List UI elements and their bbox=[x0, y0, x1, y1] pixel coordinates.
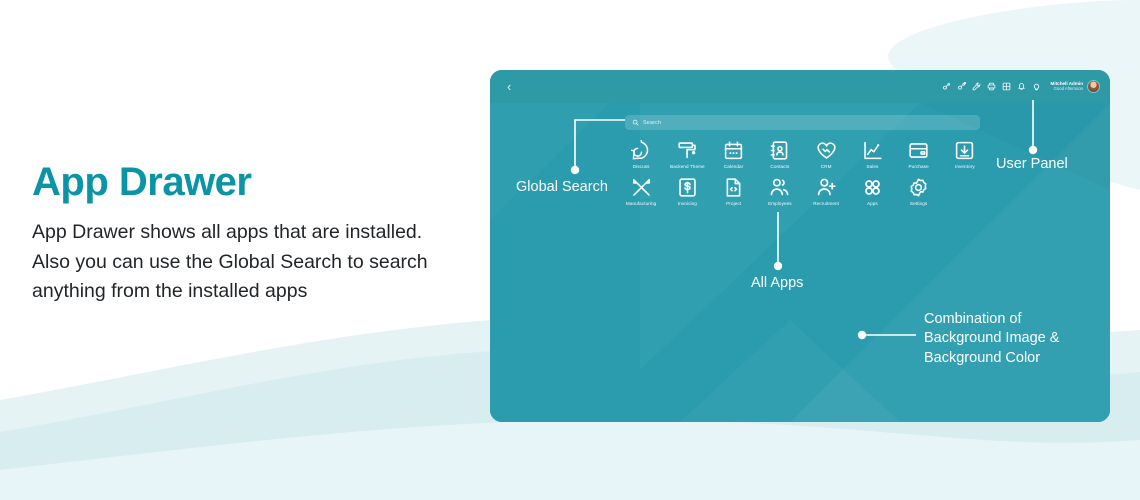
app-item-inventory[interactable]: Inventory bbox=[942, 140, 988, 169]
contacts-book-icon bbox=[769, 140, 790, 161]
app-item-project[interactable]: Project bbox=[711, 177, 757, 206]
bell-icon[interactable] bbox=[1017, 82, 1026, 91]
grid-icon[interactable] bbox=[1002, 82, 1011, 91]
search-placeholder: Search bbox=[643, 120, 661, 126]
user-greeting: Good Afternoon bbox=[1051, 87, 1084, 92]
calendar-icon bbox=[723, 140, 744, 161]
app-label: Settings bbox=[910, 201, 927, 206]
avatar[interactable] bbox=[1087, 80, 1100, 93]
invoice-dollar-icon bbox=[677, 177, 698, 198]
topbar-status-icons: Mitchell Admin Good Afternoon bbox=[942, 80, 1101, 93]
search-input[interactable]: Search bbox=[625, 115, 980, 130]
app-item-settings[interactable]: Settings bbox=[896, 177, 942, 206]
app-item-backend-theme[interactable]: Backend Theme bbox=[664, 140, 710, 169]
user-panel[interactable]: Mitchell Admin Good Afternoon bbox=[1051, 80, 1101, 93]
app-label: Backend Theme bbox=[670, 164, 705, 169]
annotation-label-line2: Background Image & bbox=[924, 329, 1059, 348]
box-download-icon bbox=[954, 140, 975, 161]
line-chart-icon bbox=[862, 140, 883, 161]
user-text: Mitchell Admin Good Afternoon bbox=[1051, 81, 1084, 91]
bug-icon[interactable] bbox=[942, 82, 951, 91]
annotation-global-search: Global Search bbox=[516, 178, 608, 197]
app-label: Recruitment bbox=[813, 201, 839, 206]
print-icon[interactable] bbox=[987, 82, 996, 91]
app-label: Manufacturing bbox=[626, 201, 656, 206]
discuss-icon bbox=[631, 140, 652, 161]
gear-icon bbox=[908, 177, 929, 198]
wrench-icon[interactable] bbox=[972, 82, 981, 91]
page-description: App Drawer shows all apps that are insta… bbox=[32, 218, 452, 307]
app-label: Sales bbox=[866, 164, 878, 169]
lightbulb-icon[interactable] bbox=[1032, 82, 1041, 91]
app-label: Discuss bbox=[633, 164, 650, 169]
annotation-background-combination: Combination of Background Image & Backgr… bbox=[924, 310, 1059, 368]
annotation-user-panel: User Panel bbox=[996, 155, 1068, 174]
annotation-label-line1: Combination of bbox=[924, 310, 1059, 329]
app-label: Contacts bbox=[770, 164, 789, 169]
app-label: Invoicing bbox=[678, 201, 697, 206]
app-label: Inventory bbox=[955, 164, 975, 169]
bug-badge-icon[interactable] bbox=[957, 82, 966, 91]
four-dots-icon bbox=[862, 177, 883, 198]
app-item-apps[interactable]: Apps bbox=[849, 177, 895, 206]
app-item-purchase[interactable]: Purchase bbox=[896, 140, 942, 169]
app-item-recruitment[interactable]: Recruitment bbox=[803, 177, 849, 206]
app-item-manufacturing[interactable]: Manufacturing bbox=[618, 177, 664, 206]
app-label: Project bbox=[726, 201, 741, 206]
app-label: Apps bbox=[867, 201, 878, 206]
app-drawer-panel: ‹ Mitc bbox=[490, 70, 1110, 422]
paint-roller-icon bbox=[677, 140, 698, 161]
credit-card-icon bbox=[908, 140, 929, 161]
app-item-invoicing[interactable]: Invoicing bbox=[664, 177, 710, 206]
person-plus-icon bbox=[816, 177, 837, 198]
annotation-label: User Panel bbox=[996, 155, 1068, 174]
app-item-crm[interactable]: CRM bbox=[803, 140, 849, 169]
app-label: Calendar bbox=[724, 164, 743, 169]
annotation-label-line3: Background Color bbox=[924, 349, 1059, 368]
app-grid: Discuss Backend Theme Calendar bbox=[618, 140, 988, 206]
app-item-discuss[interactable]: Discuss bbox=[618, 140, 664, 169]
page-title: App Drawer bbox=[32, 160, 452, 204]
app-label: Employees bbox=[768, 201, 792, 206]
app-label: CRM bbox=[821, 164, 832, 169]
search-icon bbox=[632, 119, 639, 126]
marketing-copy: App Drawer App Drawer shows all apps tha… bbox=[32, 160, 452, 307]
app-item-contacts[interactable]: Contacts bbox=[757, 140, 803, 169]
chevron-left-icon[interactable]: ‹ bbox=[507, 80, 511, 93]
tools-icon bbox=[631, 177, 652, 198]
drawer-topbar: ‹ Mitc bbox=[490, 70, 1110, 103]
annotation-all-apps: All Apps bbox=[751, 274, 803, 293]
app-item-calendar[interactable]: Calendar bbox=[711, 140, 757, 169]
annotation-label: All Apps bbox=[751, 274, 803, 293]
annotation-label: Global Search bbox=[516, 178, 608, 197]
app-item-sales[interactable]: Sales bbox=[849, 140, 895, 169]
code-file-icon bbox=[723, 177, 744, 198]
app-item-employees[interactable]: Employees bbox=[757, 177, 803, 206]
app-label: Purchase bbox=[909, 164, 929, 169]
people-icon bbox=[769, 177, 790, 198]
heart-handshake-icon bbox=[816, 140, 837, 161]
